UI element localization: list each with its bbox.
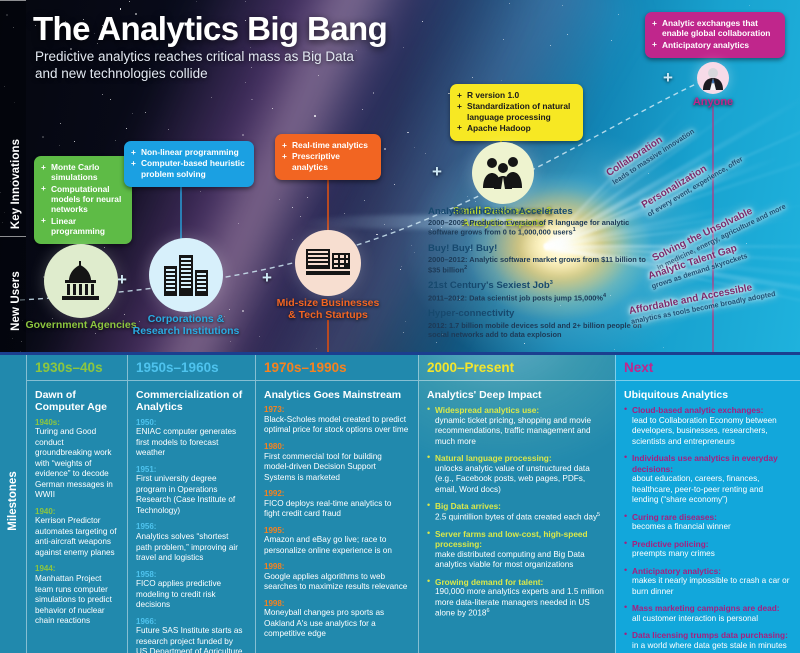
timeline-event: 1944:Manhattan Project team runs compute… [35,564,118,626]
innovation-item: Non-linear programming [131,147,246,157]
timeline-event: 1940s:Turing and Good conduct groundbrea… [35,418,118,501]
timeline-bullet-text: dynamic ticket pricing, shopping and mov… [435,416,606,448]
plus-icon: + [432,162,442,182]
timeline-era-label: 1930s–40s [35,360,103,375]
timeline-bullet-head: Curing rare diseases: [632,512,791,522]
timeline-bullet-text: makes it nearly impossible to crash a ca… [632,576,791,597]
innovation-box-magenta[interactable]: Analytic exchanges that enable global co… [645,12,785,58]
stat-heading: Buy! Buy! Buy! [428,243,646,255]
timeline-event-year: 1956: [136,522,246,532]
timeline-event: 1980:First commercial tool for building … [264,442,409,483]
timeline-event-year: 1958: [136,570,246,580]
innovation-item: Computer-based heuristic problem solving [131,158,246,179]
timeline-columns: 1930s–40sDawn of Computer Age1940s:Turin… [26,355,800,653]
timeline-event-text: Moneyball changes pro sports as Oakland … [264,608,409,640]
timeline-event-text: Google applies algorithms to web searche… [264,572,409,593]
stat-heading: 21st Century's Sexiest Job3 [428,280,646,292]
cosmic-background-panel: The Analytics Big Bang Predictive analyt… [0,0,800,352]
user-node-label: Government Agencies [25,320,137,332]
timeline-column-body: Cloud-based analytic exchanges:lead to C… [616,405,800,651]
user-node-government[interactable]: Government Agencies [25,244,137,332]
timeline-event-year: 1980: [264,442,409,452]
timeline-era-header: 1950s–1960s [128,355,255,381]
timeline-event-text: First university degree program in Opera… [136,474,246,516]
timeline-era-label: 2000–Present [427,360,514,375]
timeline-column-1930s-40s[interactable]: 1930s–40sDawn of Computer Age1940s:Turin… [26,355,127,653]
server-rack-icon [295,230,361,296]
timeline-era-header: 2000–Present [419,355,615,381]
timeline-bullet-head: Anticipatory analytics: [632,566,791,576]
timeline-bullet: Cloud-based analytic exchanges:lead to C… [624,405,791,447]
timeline-event-year: 1940: [35,507,118,517]
user-node-anyone[interactable]: Anyone [678,62,748,108]
timeline-event: 1992:FICO deploys real-time analytics to… [264,489,409,520]
timeline-bullet: Growing demand for talent:190,000 more a… [427,577,606,620]
plus-icon: + [262,268,272,288]
timeline-event-text: Amazon and eBay go live; race to persona… [264,535,409,556]
timeline-bullet-head: Big Data arrives: [435,501,606,511]
timeline-column-1970s-1990s[interactable]: 1970s–1990sAnalytics Goes Mainstream1973… [255,355,418,653]
timeline-column-title: Ubiquitous Analytics [616,381,800,405]
timeline-event-text: Manhattan Project team runs computer sim… [35,574,118,627]
innovation-item: Computational models for neural networks [41,184,124,215]
timeline-era-label: Next [624,360,653,375]
milestones-axis-strip: Milestones [0,355,26,653]
timeline-bullet: Widespread analytics use:dynamic ticket … [427,405,606,447]
timeline-column-body: 1950:ENIAC computer generates first mode… [128,418,255,653]
timeline-era-header: Next [616,355,800,381]
axis-label-milestones: Milestones [7,451,19,551]
user-node-midsize[interactable]: Mid-size Businesses & Tech Startups [272,230,384,322]
innovation-item: Linear programming [41,216,124,237]
user-node-corporations[interactable]: Corporations & Research Institutions [128,238,244,338]
timeline-event-text: FICO deploys real-time analytics to figh… [264,499,409,520]
innovation-item: Apache Hadoop [457,123,575,133]
timeline-bullet-text: becomes a financial winner [632,522,791,533]
innovation-item: Anticipatory analytics [652,40,777,50]
timeline-bullet: Individuals use analytics in everyday de… [624,453,791,505]
innovation-item: Standardization of natural language proc… [457,101,575,122]
timeline-bullet-head: Cloud-based analytic exchanges: [632,405,791,415]
capitol-building-icon [44,244,118,318]
timeline-bullet-head: Mass marketing campaigns are dead: [632,603,791,613]
people-group-icon [472,142,534,204]
stat-heading: Analytic Innovation Accelerates [428,206,646,218]
timeline-bullet-head: Individuals use analytics in everyday de… [632,453,791,474]
timeline-column-title: Analytics' Deep Impact [419,381,615,405]
timeline-bullet: Anticipatory analytics:makes it nearly i… [624,566,791,597]
timeline-column-2000-present[interactable]: 2000–PresentAnalytics' Deep ImpactWidesp… [418,355,615,653]
timeline-event: 1998:Moneyball changes pro sports as Oak… [264,599,409,640]
timeline-column-1950s-1960s[interactable]: 1950s–1960sCommercialization of Analytic… [127,355,255,653]
axis-label-new-users: New Users [10,251,22,351]
stat-heading: Hyper-connectivity [428,308,646,320]
timeline-bullet-head: Widespread analytics use: [435,405,606,415]
timeline-panel: Milestones 1930s–40sDawn of Computer Age… [0,352,800,653]
stat-body: 2011–2012: Data scientist job posts jump… [428,293,646,303]
innovation-item: Analytic exchanges that enable global co… [652,18,777,39]
timeline-event: 1973:Black-Scholes model created to pred… [264,405,409,436]
timeline-bullet-text: about education, careers, finances, heal… [632,474,791,506]
timeline-event-text: FICO applies predictive modeling to cred… [136,579,246,611]
timeline-event-text: Future SAS Institute starts as research … [136,626,246,653]
connector-orange-lower [327,320,329,352]
timeline-event-year: 1998: [264,562,409,572]
timeline-bullet-text: preempts many crimes [632,549,791,560]
timeline-bullet: Natural language processing:unlocks anal… [427,453,606,495]
innovation-item: Prescriptive analytics [282,151,373,172]
user-node-label: Anyone [678,96,748,108]
timeline-event: 1966:Future SAS Institute starts as rese… [136,617,246,653]
axis-divider-top [0,0,26,1]
timeline-event: 1951:First university degree program in … [136,465,246,517]
timeline-bullet-text: make distributed computing and Big Data … [435,550,606,571]
timeline-era-header: 1930s–40s [27,355,127,381]
timeline-era-label: 1970s–1990s [264,360,347,375]
timeline-event-text: Analytics solves “shortest path problem,… [136,532,246,564]
axis-label-key-innovations: Key Innovations [10,134,22,234]
innovation-box-green[interactable]: Monte Carlo simulations Computational mo… [34,156,132,244]
page-title: The Analytics Big Bang [33,10,387,48]
page-subtitle: Predictive analytics reaches critical ma… [35,48,375,83]
timeline-bullet-text: unlocks analytic value of unstructured d… [435,464,606,496]
timeline-event: 1956:Analytics solves “shortest path pro… [136,522,246,563]
infographic-root: The Analytics Big Bang Predictive analyt… [0,0,800,653]
timeline-event: 1940:Kerrison Predictor automates target… [35,507,118,559]
timeline-bullet: Big Data arrives:2.5 quintillion bytes o… [427,501,606,523]
plus-icon: + [663,68,673,88]
timeline-event-year: 1973: [264,405,409,415]
timeline-bullet: Data licensing trumps data purchasing:in… [624,630,791,651]
person-avatar-icon [697,62,729,94]
stat-body: 2000–2012: Analytic software market grow… [428,255,646,274]
timeline-column-title: Dawn of Computer Age [27,381,127,418]
timeline-bullet-text: lead to Collaboration Economy between de… [632,416,791,448]
timeline-event: 1958:FICO applies predictive modeling to… [136,570,246,611]
timeline-bullet-text: 190,000 more analytics experts and 1.5 m… [435,587,606,619]
timeline-event-year: 1995: [264,526,409,536]
innovation-box-orange[interactable]: Real-time analytics Prescriptive analyti… [275,134,381,180]
timeline-event-year: 1966: [136,617,246,627]
timeline-bullet-head: Server farms and low-cost, high-speed pr… [435,529,606,550]
timeline-column-title: Analytics Goes Mainstream [256,381,418,405]
timeline-era-label: 1950s–1960s [136,360,219,375]
innovation-item: R version 1.0 [457,90,575,100]
timeline-bullet-text: 2.5 quintillion bytes of data created ea… [435,512,606,523]
innovation-item: Real-time analytics [282,140,373,150]
timeline-event-text: First commercial tool for building model… [264,452,409,484]
timeline-bullet-head: Growing demand for talent: [435,577,606,587]
timeline-era-header: 1970s–1990s [256,355,418,381]
timeline-event-text: Kerrison Predictor automates targeting o… [35,516,118,558]
timeline-bullet-text: in a world where data gets stale in minu… [632,641,791,652]
timeline-column-body: 1940s:Turing and Good conduct groundbrea… [27,418,127,627]
stats-block: Analytic Innovation Accelerates 2000–200… [428,206,646,339]
timeline-bullet-text: all customer interaction is personal [632,614,791,625]
timeline-event-year: 1940s: [35,418,118,428]
user-node-label: Corporations & Research Institutions [128,314,244,338]
timeline-bullet: Curing rare diseases:becomes a financial… [624,512,791,533]
timeline-column-title: Commercialization of Analytics [128,381,255,418]
timeline-bullet: Server farms and low-cost, high-speed pr… [427,529,606,571]
timeline-bullet: Mass marketing campaigns are dead:all cu… [624,603,791,624]
innovation-item: Monte Carlo simulations [41,162,124,183]
timeline-event-year: 1992: [264,489,409,499]
office-towers-icon [149,238,223,312]
timeline-event: 1998:Google applies algorithms to web se… [264,562,409,593]
innovation-box-yellow[interactable]: R version 1.0 Standardization of natural… [450,84,583,141]
user-node-label: Mid-size Businesses & Tech Startups [272,298,384,322]
axis-divider-mid [0,236,26,237]
timeline-event-year: 1951: [136,465,246,475]
timeline-event-text: Turing and Good conduct groundbreaking w… [35,427,118,501]
stat-body: 2000–2009: Production version of R langu… [428,218,646,237]
timeline-event-year: 1950: [136,418,246,428]
timeline-bullet-head: Data licensing trumps data purchasing: [632,630,791,640]
timeline-column-next[interactable]: NextUbiquitous AnalyticsCloud-based anal… [615,355,800,653]
timeline-event-text: Black-Scholes model created to predict o… [264,415,409,436]
timeline-bullet-head: Predictive policing: [632,539,791,549]
stat-body: 2012: 1.7 billion mobile devices sold an… [428,321,646,340]
innovation-box-blue[interactable]: Non-linear programming Computer-based he… [124,141,254,187]
timeline-event-year: 1998: [264,599,409,609]
timeline-bullet: Predictive policing:preempts many crimes [624,539,791,560]
timeline-column-body: 1973:Black-Scholes model created to pred… [256,405,418,640]
timeline-event-year: 1944: [35,564,118,574]
timeline-column-body: Widespread analytics use:dynamic ticket … [419,405,615,619]
timeline-event: 1995:Amazon and eBay go live; race to pe… [264,526,409,557]
timeline-event: 1950:ENIAC computer generates first mode… [136,418,246,459]
timeline-bullet-head: Natural language processing: [435,453,606,463]
timeline-event-text: ENIAC computer generates first models to… [136,427,246,459]
